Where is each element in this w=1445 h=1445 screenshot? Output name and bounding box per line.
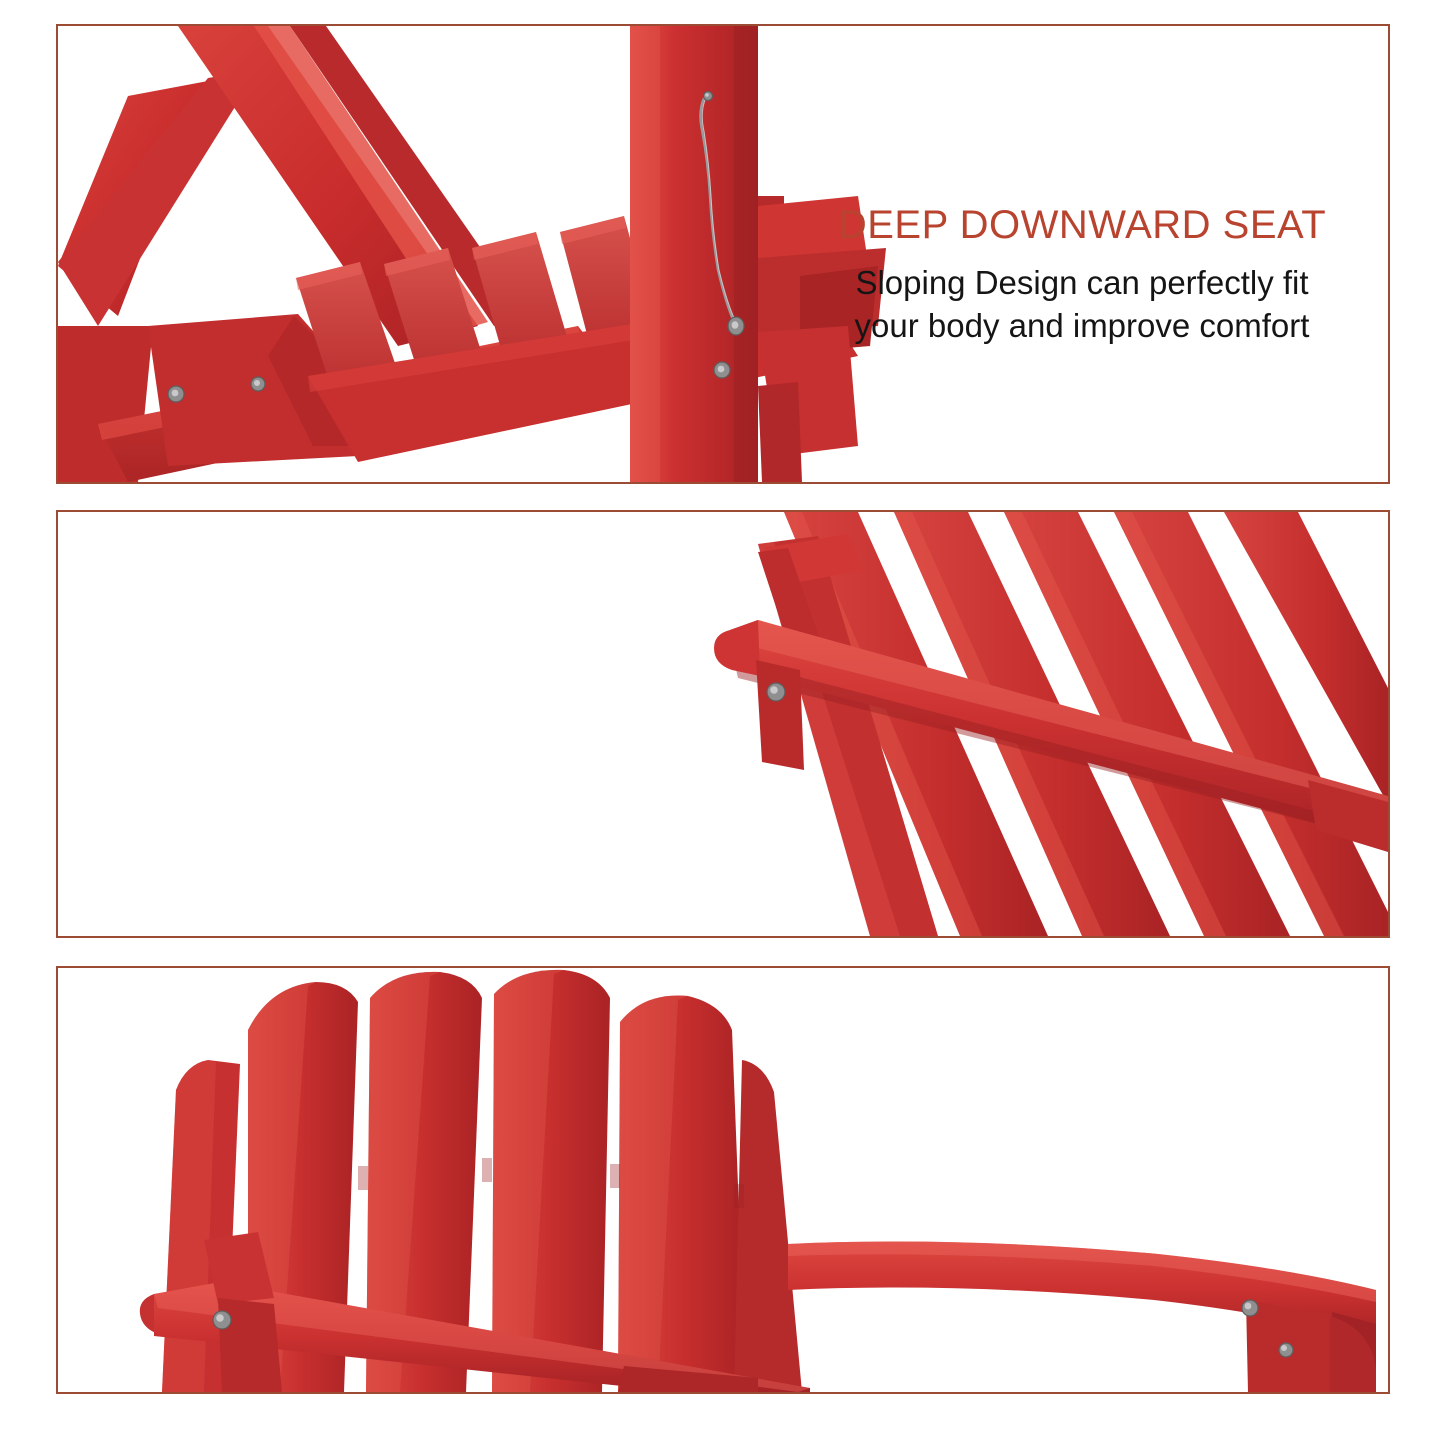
feature-panel-extra-tall-backrest: EXTRA TALL BACKREST High backrest to giv… [56,966,1390,1394]
chair-armrest-image [58,512,1388,936]
chair-backrest-image [58,968,1388,1392]
panel-1-body-line-1: Sloping Design can perfectly fit [802,262,1362,305]
panel-1-body-line-2: your body and improve comfort [802,305,1362,348]
panel-1-body: Sloping Design can perfectly fit your bo… [802,262,1362,348]
panel-1-text-block: DEEP DOWNWARD SEAT Sloping Design can pe… [802,202,1362,348]
panel-1-heading: DEEP DOWNWARD SEAT [802,202,1362,248]
feature-panels-page: DEEP DOWNWARD SEAT Sloping Design can pe… [0,0,1445,1445]
feature-panel-deep-downward-seat: DEEP DOWNWARD SEAT Sloping Design can pe… [56,24,1390,484]
feature-panel-ergonomic-armrest: ERGONOMIC ARMREST Wide armrests on both … [56,510,1390,938]
